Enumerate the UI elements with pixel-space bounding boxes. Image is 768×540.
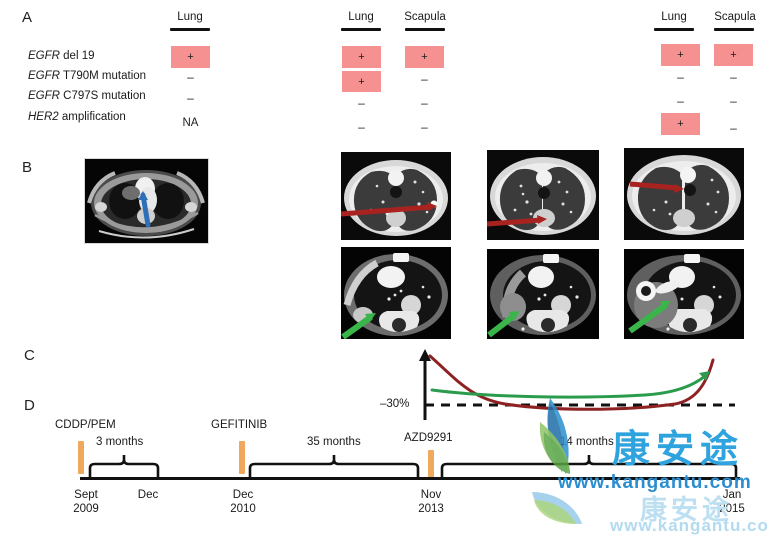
panel-a-g2-col-rule-lung [341, 28, 381, 31]
series-lung-lesion-response [430, 356, 713, 409]
panel-a-g3-col-rule-scapula [714, 28, 754, 31]
date-year: 2013 [406, 502, 456, 516]
row-label-egfr-c797s: EGFR C797S mutation [28, 89, 146, 103]
drug-label-gefitinib: GEFITINIB [211, 419, 267, 431]
panel-a-g3-scapula-del19-positive: + [714, 44, 753, 66]
panel-a-g3-lung-her2-positive: + [661, 113, 700, 135]
date-month: Sept [58, 488, 114, 502]
date-year: 2010 [218, 502, 268, 516]
panel-a-g3-lung-t790m: – [661, 70, 700, 84]
drug-marker-cddp-pem [78, 441, 84, 474]
drug-marker-azd9291 [428, 450, 434, 478]
panel-a-g3-col-header-lung: Lung [650, 11, 698, 23]
date-month: Jan [708, 488, 756, 502]
ct-image-pet-baseline [84, 158, 209, 244]
panel-a-g3-col-rule-lung [654, 28, 694, 31]
y-axis [419, 349, 431, 420]
ct-scapula-3-render [624, 249, 744, 339]
panel-a-g2-lung-c797s: – [342, 96, 381, 110]
panel-a-g2-lung-del19-positive: + [342, 46, 381, 68]
panel-a-g3-lung-c797s: – [661, 94, 700, 108]
drug-label-cddp-pem: CDDP/PEM [55, 419, 116, 431]
ct-image-lung-3 [624, 148, 744, 240]
ct-image-lung-2 [487, 150, 599, 240]
duration-bracket-3-months [88, 455, 160, 479]
panel-a-g3-lung-del19-positive: + [661, 44, 700, 66]
ct-image-lung-1 [341, 152, 451, 240]
panel-a-g2-scapula-del19-positive: + [405, 46, 444, 68]
date-month: Nov [406, 488, 456, 502]
gene-name: HER2 [28, 111, 59, 123]
panel-c-letter: C [24, 348, 35, 363]
row-label-egfr-del19: EGFR del 19 [28, 49, 146, 63]
date-label-sept-2009: Sept 2009 [58, 488, 114, 516]
response-curve-plot [375, 348, 735, 420]
panel-a-g2-lung-t790m-positive: + [342, 71, 381, 92]
date-year: 2015 [708, 502, 756, 516]
gene-name: EGFR [28, 90, 60, 102]
duration-label-14-months: 14 months [560, 436, 614, 448]
gene-name: EGFR [28, 70, 60, 82]
panel-a-g1-lung-t790m: – [171, 70, 210, 84]
panel-a-g3-scapula-t790m: – [714, 70, 753, 84]
panel-a-g2-col-rule-scapula [405, 28, 445, 31]
panel-a-g3-scapula-c797s: – [714, 94, 753, 108]
panel-c-threshold-label: –30% [380, 398, 409, 410]
panel-a-g1-lung-c797s: – [171, 91, 210, 105]
duration-bracket-14-months [440, 455, 738, 479]
ct-lung-1-render [341, 152, 451, 240]
ct-lung-3-render [624, 148, 744, 240]
panel-a-g1-lung-del19-positive: + [171, 46, 210, 68]
panel-a-letter: A [22, 10, 32, 25]
panel-a-g3-col-header-scapula: Scapula [706, 11, 764, 23]
ct-image-scapula-2 [487, 249, 599, 339]
panel-d-letter: D [24, 398, 35, 413]
date-label-dec: Dec [124, 488, 172, 502]
ct-lung-2-render [487, 150, 599, 240]
panel-a-g2-col-header-lung: Lung [337, 11, 385, 23]
panel-a-g1-lung-her2: NA [171, 117, 210, 129]
ct-scapula-2-render [487, 249, 599, 339]
drug-label-azd9291: AZD9291 [404, 432, 453, 444]
date-month: Dec [218, 488, 268, 502]
panel-a-g2-lung-her2: – [342, 120, 381, 134]
gene-name: EGFR [28, 50, 60, 62]
date-year: 2009 [58, 502, 114, 516]
panel-a-g1-col-header-lung: Lung [166, 11, 214, 23]
panel-a-g2-col-header-scapula: Scapula [396, 11, 454, 23]
panel-a-row-labels: EGFR del 19 EGFR T790M mutation EGFR C79… [28, 49, 146, 124]
panel-a-g2-scapula-her2: – [405, 120, 444, 134]
ct-image-scapula-1 [341, 247, 451, 339]
duration-label-3-months: 3 months [96, 436, 143, 448]
date-label-dec-2010: Dec 2010 [218, 488, 268, 516]
row-label-egfr-t790m: EGFR T790M mutation [28, 69, 146, 83]
date-label-jan-2015: Jan 2015 [708, 488, 756, 516]
panel-a-g3-scapula-her2: – [714, 121, 753, 135]
panel-b-letter: B [22, 160, 32, 175]
watermark-url-2: www.kangantu.com [610, 516, 768, 536]
duration-label-35-months: 35 months [307, 436, 361, 448]
panel-a-g2-scapula-c797s: – [405, 96, 444, 110]
date-label-nov-2013: Nov 2013 [406, 488, 456, 516]
drug-marker-gefitinib [239, 441, 245, 474]
panel-a-g2-scapula-t790m: – [405, 72, 444, 86]
duration-bracket-35-months [248, 455, 420, 479]
series-scapula-lesion-response [432, 376, 705, 397]
ct-pet-baseline-render [85, 159, 208, 243]
panel-c-chart [375, 348, 735, 420]
ct-image-scapula-3 [624, 249, 744, 339]
row-label-her2-amp: HER2 amplification [28, 110, 146, 124]
panel-a-g1-col-rule [170, 28, 210, 31]
date-month: Dec [124, 488, 172, 502]
ct-scapula-1-render [341, 247, 451, 339]
